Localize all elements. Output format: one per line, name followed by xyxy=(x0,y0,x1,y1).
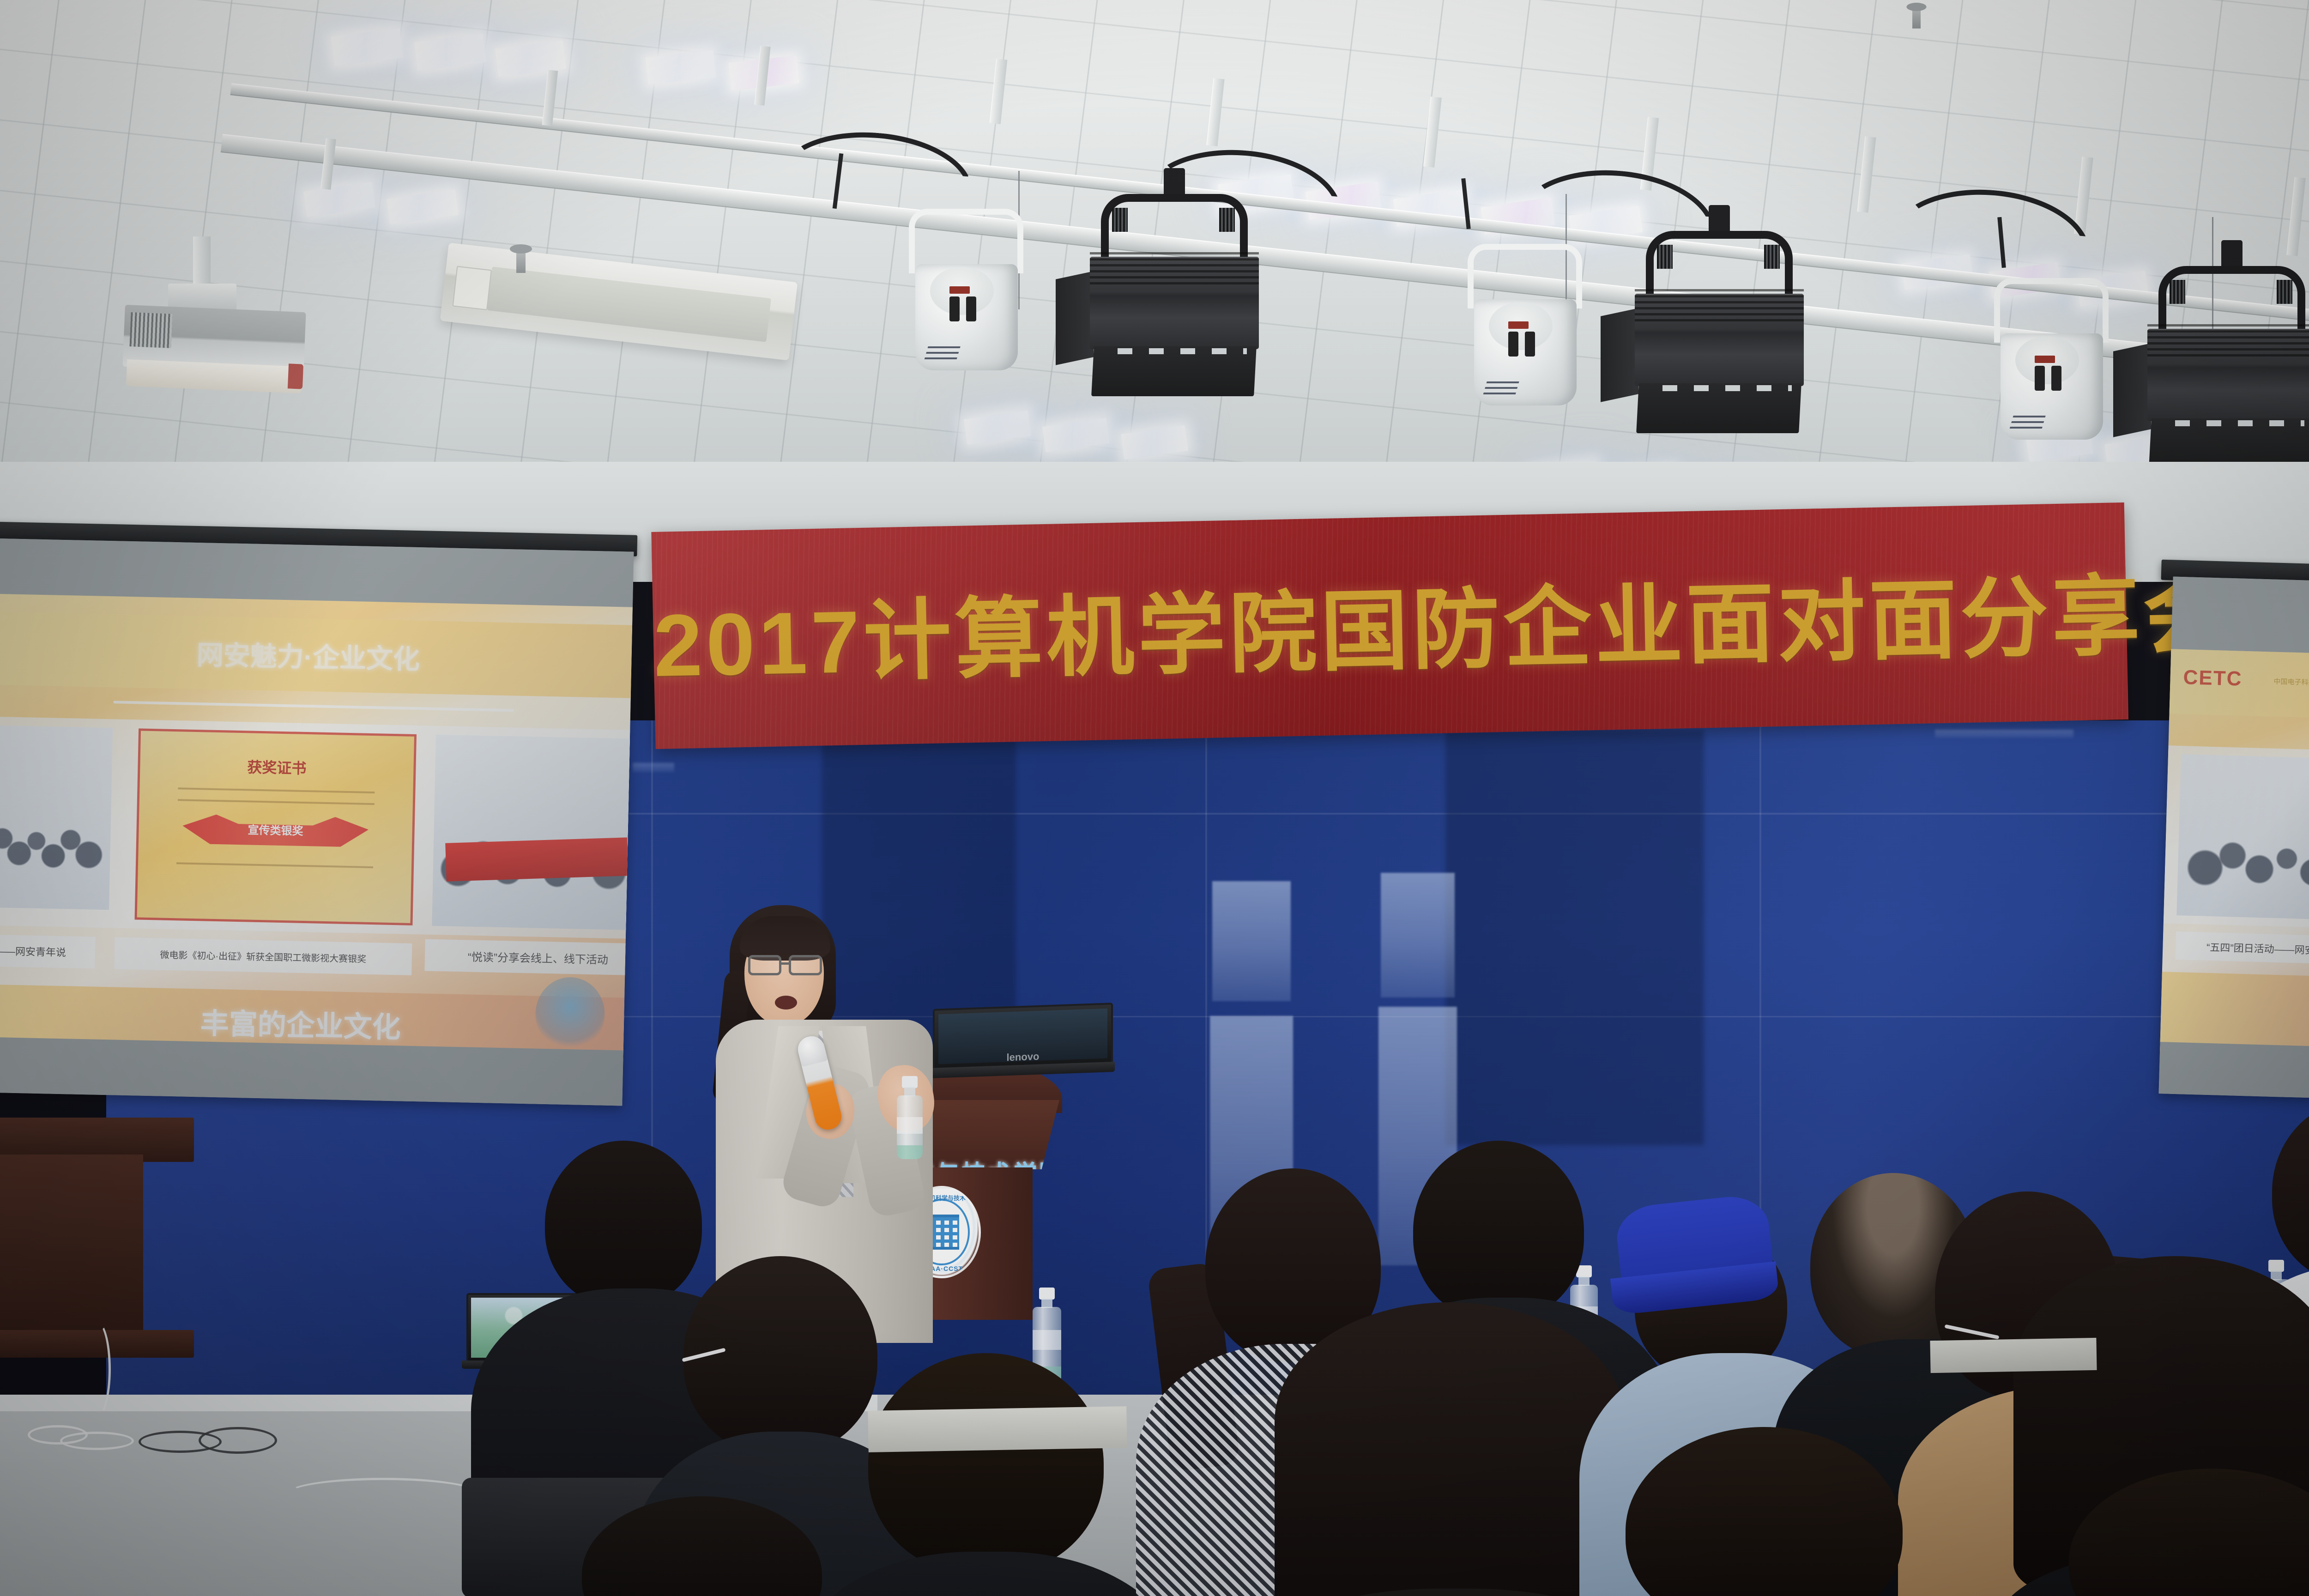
light-connector xyxy=(1508,332,1518,357)
audience-table xyxy=(1930,1338,2097,1373)
light-barndoor-slots xyxy=(1101,348,1247,354)
light-indicator xyxy=(949,286,970,294)
backdrop-window-reflection xyxy=(1212,881,1291,1001)
light-connector xyxy=(2051,366,2061,391)
light-barndoor-slots xyxy=(1646,385,1792,391)
light-heat-fins xyxy=(1090,248,1259,286)
certificate-text-line xyxy=(176,862,373,868)
screen-border-bottom xyxy=(2159,1042,2309,1103)
projector-mount-pole xyxy=(193,236,211,286)
slide-title: 网安魅力·企业文化 xyxy=(196,633,420,677)
light-yoke xyxy=(1994,278,2109,343)
light-indicator xyxy=(2035,356,2055,363)
light-vent-stripes xyxy=(924,343,961,362)
fire-sprinkler-head xyxy=(516,252,526,273)
light-barndoor-side xyxy=(1056,271,1094,365)
slide-caption-2: 微电影《初心·出征》斩获全国职工微影视大赛银奖 xyxy=(114,937,412,975)
ac-diffuser-tab xyxy=(452,266,492,310)
floor-cable-run xyxy=(286,1478,480,1510)
projector-accent xyxy=(288,363,303,389)
light-vent xyxy=(2277,280,2292,304)
light-connector xyxy=(966,296,976,321)
light-heat-fins xyxy=(2147,320,2309,358)
bottle-cap xyxy=(2268,1260,2284,1272)
light-barndoor-side xyxy=(1601,308,1638,402)
light-barndoor-slots xyxy=(2158,420,2304,426)
photo-banner-strip xyxy=(445,837,629,881)
light-vent-stripes xyxy=(1482,378,1520,397)
event-banner-text: 2017计算机学院国防企业面对面分享会 xyxy=(652,545,2128,701)
stage-light-white-2 xyxy=(1464,244,1588,410)
audience-head xyxy=(868,1353,1104,1575)
light-vent xyxy=(1112,208,1128,232)
cetc-logo-subtitle: 中国电子科技网络信息安全有限公司 xyxy=(2273,677,2309,689)
light-yoke xyxy=(1468,244,1582,308)
cetc-logo: CETC xyxy=(2183,666,2243,691)
audience-head xyxy=(1413,1141,1584,1321)
ceiling-projector xyxy=(124,281,308,396)
light-connector xyxy=(949,296,960,321)
slide-caption: “五四”团日活动——网安青年说 xyxy=(2176,931,2309,965)
projector-cable xyxy=(83,1321,111,1418)
photo-people xyxy=(2176,754,2309,922)
light-vent xyxy=(1657,245,1673,269)
bottle-neck xyxy=(904,1087,915,1096)
slide-photo-group-right xyxy=(432,735,634,930)
light-connector xyxy=(2035,366,2045,391)
slide-header: 网安魅力·企业文化 xyxy=(0,612,632,698)
slide-caption-1: ——网安青年说 xyxy=(0,934,96,969)
stage-light-black-2 xyxy=(1635,231,1810,439)
light-vent xyxy=(1764,245,1780,269)
presenter-glasses-bridge xyxy=(780,962,790,965)
podium-laptop[interactable]: lenovo xyxy=(933,1006,1113,1080)
light-indicator xyxy=(1508,321,1529,329)
audience-head xyxy=(683,1256,877,1455)
bottle-cap xyxy=(902,1076,918,1088)
left-projection-screen[interactable]: 网安魅力·企业文化 获奖证书 宣传类银奖 xyxy=(0,538,634,1106)
water-bottle-podium[interactable] xyxy=(897,1076,923,1159)
event-banner: 2017计算机学院国防企业面对面分享会 xyxy=(651,502,2128,749)
bottle-label xyxy=(1033,1330,1061,1350)
laptop-brand-label: lenovo xyxy=(1007,1051,1040,1064)
bottle-neck xyxy=(2271,1271,2282,1280)
light-yoke xyxy=(909,209,1023,273)
slide-photo-group xyxy=(2176,754,2309,922)
presenter-hair-fringe xyxy=(740,916,830,961)
audience-table xyxy=(868,1406,1127,1452)
stage-light-black-1 xyxy=(1090,194,1265,402)
presenter-glasses-right xyxy=(789,955,822,975)
ac-diffuser-grille xyxy=(487,266,771,342)
side-table-leg xyxy=(0,1155,143,1339)
floor-cable-coil xyxy=(60,1432,134,1450)
right-slide: CETC 中国电子科技网络信息安全有限公司 “五四”团日活动——网安青年说 丰 xyxy=(2160,649,2309,1061)
light-barndoor-side xyxy=(2113,343,2151,437)
slide-header: CETC 中国电子科技网络信息安全有限公司 xyxy=(2169,649,2309,722)
laptop-lid: lenovo xyxy=(933,1003,1113,1070)
bottle-neck xyxy=(1041,1299,1052,1308)
audience-head xyxy=(545,1141,702,1307)
bottle-neck xyxy=(1578,1276,1590,1286)
bottle-label xyxy=(897,1117,923,1134)
right-projection-screen[interactable]: CETC 中国电子科技网络信息安全有限公司 “五四”团日活动——网安青年说 丰 xyxy=(2159,576,2309,1102)
projector-vent xyxy=(129,312,172,348)
light-vent xyxy=(1219,208,1235,232)
photo-people xyxy=(0,725,113,910)
slide-photo-group-left xyxy=(0,725,113,910)
lecture-hall-scene: 2017计算机学院国防企业面对面分享会 网安魅力·企业文化 获奖证书 宣传类银奖 xyxy=(0,0,2309,1596)
stage-light-white-1 xyxy=(905,209,1029,375)
floor-cable-coil-dark xyxy=(199,1427,277,1454)
left-slide: 网安魅力·企业文化 获奖证书 宣传类银奖 xyxy=(0,593,633,1061)
photo-people xyxy=(432,735,634,930)
backdrop-highlight xyxy=(1935,730,2073,738)
certificate-title: 获奖证书 xyxy=(140,753,414,780)
bottle-body xyxy=(897,1095,923,1159)
slide-footer-text: 丰富的企业文化 xyxy=(200,1000,401,1046)
bottle-water xyxy=(897,1145,923,1159)
presenter-glasses-left xyxy=(748,955,781,975)
backdrop-highlight xyxy=(633,763,674,772)
certificate-award-text: 宣传类银奖 xyxy=(139,818,412,840)
light-vent xyxy=(2170,280,2185,304)
light-vent-stripes xyxy=(2009,412,2047,431)
fire-sprinkler-head xyxy=(1912,9,1921,28)
stage-light-white-3 xyxy=(1990,278,2114,444)
slide-caption-3: “悦读”分享会线上、线下活动 xyxy=(424,939,634,976)
slide-certificate-image: 获奖证书 宣传类银奖 xyxy=(135,729,417,925)
certificate-text-line xyxy=(178,788,375,794)
backdrop-reflection-dark xyxy=(1445,730,1704,1145)
light-heat-fins xyxy=(1635,285,1804,323)
presenter-mouth xyxy=(775,996,797,1010)
certificate-text-line xyxy=(178,799,375,805)
light-connector xyxy=(1525,332,1535,357)
bottle-cap xyxy=(1039,1288,1055,1300)
audience-long-hair xyxy=(1275,1302,1626,1596)
stage-light-black-3 xyxy=(2147,266,2309,474)
backdrop-window-reflection xyxy=(1381,873,1455,997)
